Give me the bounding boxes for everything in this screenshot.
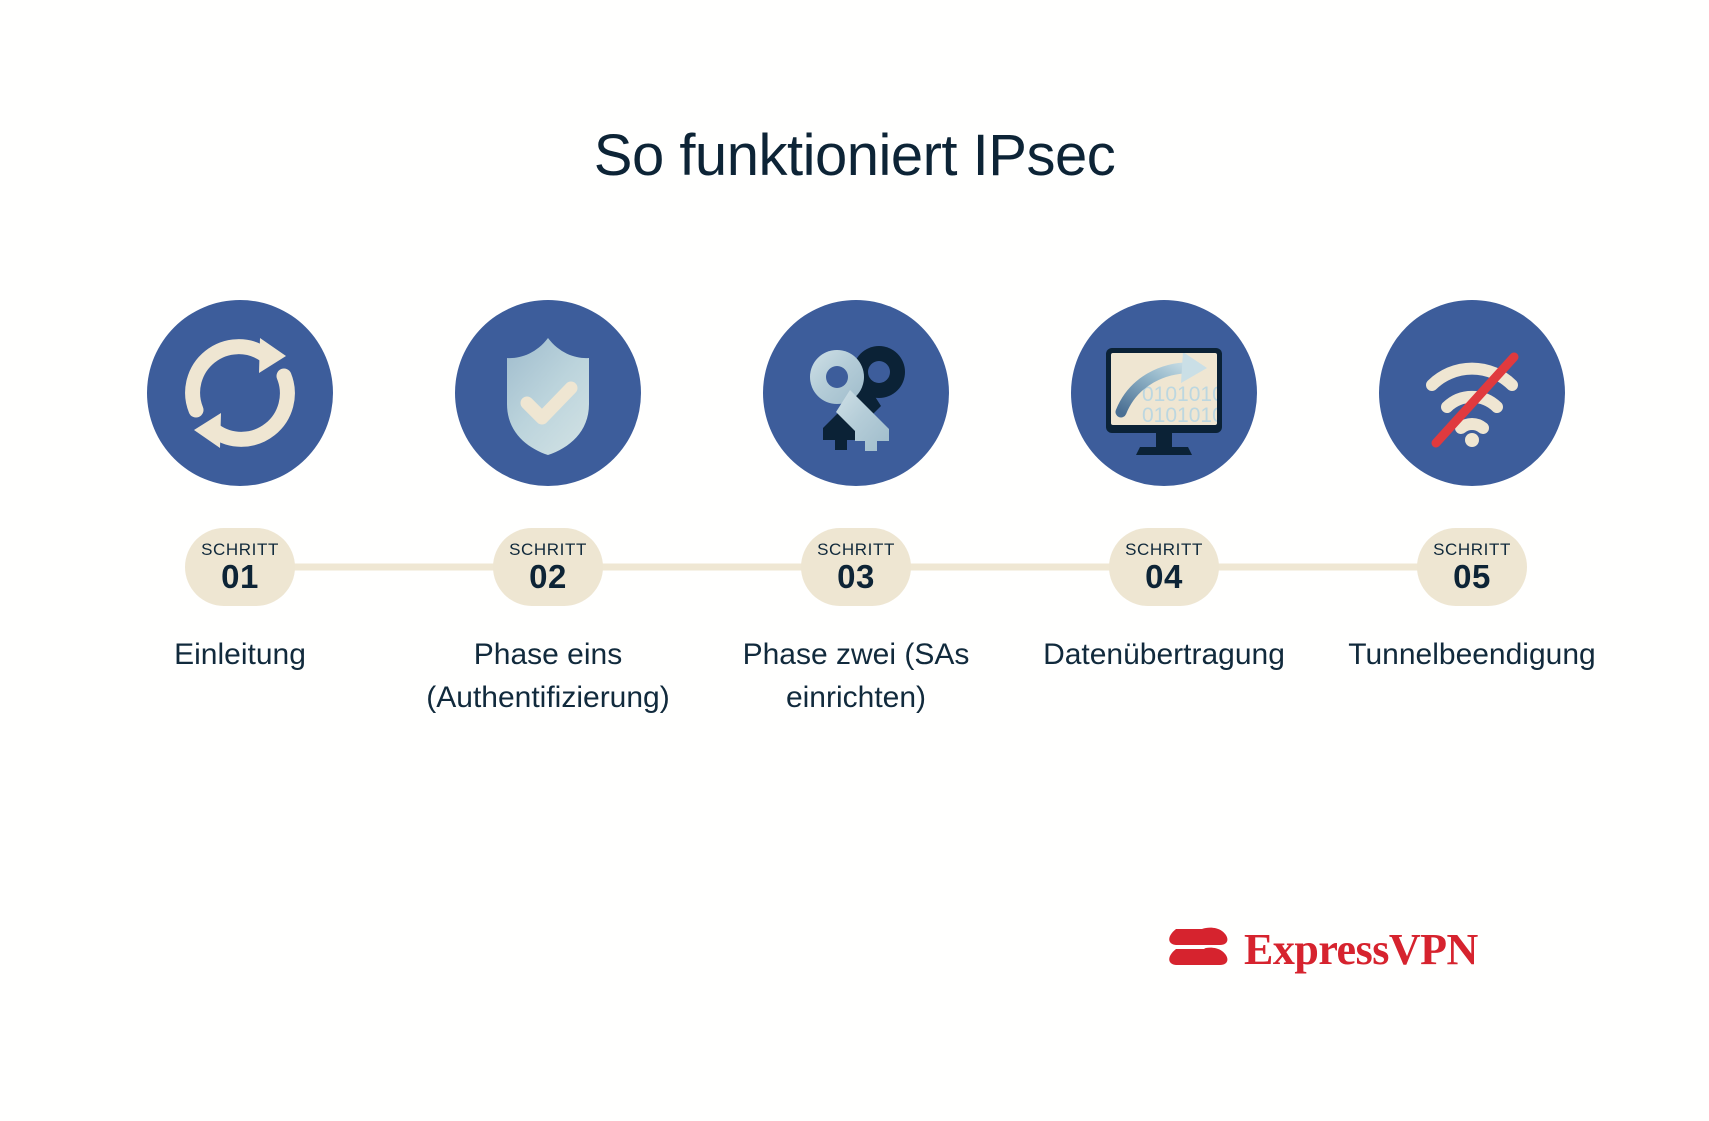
step-kicker: SCHRITT xyxy=(201,541,279,558)
step-number: 03 xyxy=(837,560,875,593)
badge-row-04: SCHRITT 04 xyxy=(1010,528,1318,606)
step-caption-05: Tunnelbeendigung xyxy=(1322,634,1622,677)
svg-text:0101010: 0101010 xyxy=(1142,404,1224,427)
step-number: 05 xyxy=(1453,560,1491,593)
step-caption-02: Phase eins (Authentifizierung) xyxy=(398,634,698,719)
expressvpn-logo: ExpressVPN xyxy=(1164,916,1478,983)
refresh-sync-icon xyxy=(147,300,333,486)
step-kicker: SCHRITT xyxy=(817,541,895,558)
svg-text:0101010: 0101010 xyxy=(1142,383,1224,406)
step-badge-02: SCHRITT 02 xyxy=(493,528,603,606)
step-caption-03: Phase zwei (SAs einrichten) xyxy=(706,634,1006,719)
step-kicker: SCHRITT xyxy=(1433,541,1511,558)
infographic-canvas: So funktioniert IPsec SCHRITT 01 xyxy=(0,0,1709,1121)
step-kicker: SCHRITT xyxy=(1125,541,1203,558)
step-badge-05: SCHRITT 05 xyxy=(1417,528,1527,606)
badge-row-05: SCHRITT 05 xyxy=(1318,528,1626,606)
step-kicker: SCHRITT xyxy=(509,541,587,558)
step-item-03: SCHRITT 03 Phase zwei (SAs einrichten) xyxy=(702,300,1010,719)
step-caption-01: Einleitung xyxy=(90,634,390,677)
step-item-04: 0101010 0101010 SCHRITT 04 Datenübertrag… xyxy=(1010,300,1318,677)
step-number: 04 xyxy=(1145,560,1183,593)
step-item-05: SCHRITT 05 Tunnelbeendigung xyxy=(1318,300,1626,677)
step-number: 01 xyxy=(221,560,259,593)
wifi-disabled-icon xyxy=(1379,300,1565,486)
step-badge-01: SCHRITT 01 xyxy=(185,528,295,606)
step-badge-04: SCHRITT 04 xyxy=(1109,528,1219,606)
page-title: So funktioniert IPsec xyxy=(0,124,1709,188)
expressvpn-logo-mark xyxy=(1164,916,1232,983)
step-number: 02 xyxy=(529,560,567,593)
badge-row-03: SCHRITT 03 xyxy=(702,528,1010,606)
step-caption-04: Datenübertragung xyxy=(1014,634,1314,677)
shield-check-icon xyxy=(455,300,641,486)
badge-row-02: SCHRITT 02 xyxy=(394,528,702,606)
step-badge-03: SCHRITT 03 xyxy=(801,528,911,606)
steps-timeline: SCHRITT 01 Einleitung xyxy=(86,300,1626,719)
monitor-data-transfer-icon: 0101010 0101010 xyxy=(1071,300,1257,486)
badge-row-01: SCHRITT 01 xyxy=(86,528,394,606)
step-item-02: SCHRITT 02 Phase eins (Authentifizierung… xyxy=(394,300,702,719)
step-item-01: SCHRITT 01 Einleitung xyxy=(86,300,394,677)
expressvpn-wordmark: ExpressVPN xyxy=(1244,924,1478,975)
two-keys-icon xyxy=(763,300,949,486)
